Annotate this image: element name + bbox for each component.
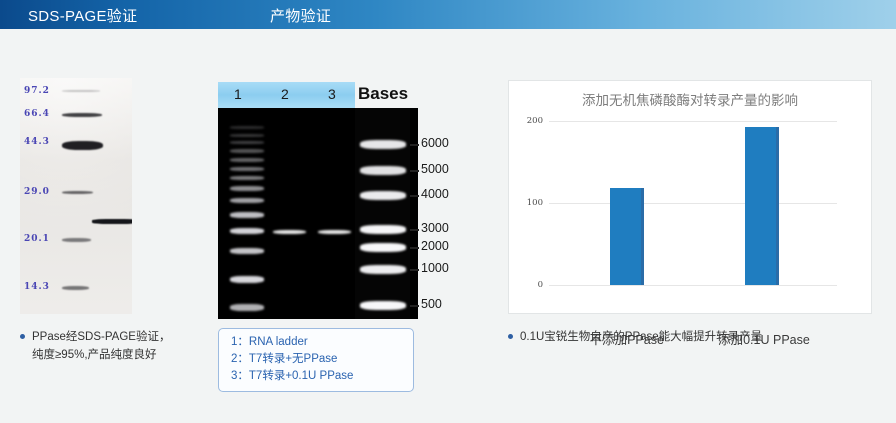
- mw-marker-label: 14.3: [24, 282, 50, 292]
- transcript-band-lane-3: [318, 230, 351, 234]
- sds-page-bullet-text: PPase经SDS-PAGE验证，纯度≥95%,产品纯度良好: [32, 328, 170, 364]
- rna-ladder-band: [230, 248, 264, 254]
- rna-ladder-band: [230, 228, 264, 234]
- mw-marker-label: 20.1: [24, 234, 50, 244]
- rna-ladder-band: [230, 167, 264, 171]
- chart-gridline: [549, 121, 837, 122]
- ladder-size-label-2000: 2000: [421, 239, 449, 253]
- mw-marker-band: [62, 141, 103, 150]
- chart-plot-area: 0100200不添加PPase添加0.1U PPase: [549, 121, 837, 285]
- chart-x-tick-label-1: 不添加PPase: [583, 329, 671, 348]
- ladder-size-label-4000: 4000: [421, 187, 449, 201]
- rna-ladder-band: [230, 149, 264, 153]
- mw-marker-label: 66.4: [24, 109, 50, 119]
- mw-marker-label: 97.2: [24, 86, 50, 96]
- chart-title: 添加无机焦磷酸酶对转录产量的影响: [509, 89, 871, 109]
- dna-ladder-band-2000: [360, 243, 406, 252]
- rna-ladder-band: [230, 186, 264, 191]
- chart-y-tick-label: 0: [538, 280, 543, 290]
- dna-ladder-band-6000: [360, 140, 406, 149]
- dna-ladder-band-1000: [360, 265, 406, 274]
- header-bar: SDS-PAGE验证 产物验证: [0, 0, 896, 29]
- mw-marker-band: [62, 286, 89, 290]
- mw-marker-band: [62, 90, 100, 92]
- tab-sds-page-verification[interactable]: SDS-PAGE验证: [28, 5, 137, 26]
- agarose-gel-image: 600050004000300020001000500: [218, 108, 418, 319]
- rna-ladder-band: [230, 176, 264, 180]
- gel-lane-header: Bases 123: [218, 82, 418, 108]
- chart-x-tick-label-2: 添加0.1U PPase: [718, 329, 806, 348]
- lane-legend-item: 3：T7转录+0.1U PPase: [231, 368, 413, 385]
- chart-bullet-row: 0.1U宝锐生物自产的PPase能大幅提升转录产量: [508, 328, 880, 346]
- bullet-dot-icon: [20, 334, 25, 339]
- dna-ladder-band-5000: [360, 166, 406, 175]
- chart-gridline: [549, 285, 837, 286]
- ladder-size-label-1000: 1000: [421, 261, 449, 275]
- ladder-size-tick: [410, 195, 419, 197]
- transcript-band-lane-2: [273, 230, 306, 234]
- ladder-size-tick: [410, 305, 419, 307]
- mw-marker-band: [62, 113, 102, 117]
- chart-bar-2[interactable]: [745, 127, 779, 285]
- mw-marker-label: 29.0: [24, 187, 50, 197]
- rna-ladder-band: [230, 141, 264, 144]
- rna-ladder-band: [230, 212, 264, 218]
- chart-column: 添加无机焦磷酸酶对转录产量的影响 0100200不添加PPase添加0.1U P…: [508, 80, 880, 346]
- rna-ladder-band: [230, 134, 264, 137]
- ladder-size-tick: [410, 247, 419, 249]
- rna-ladder-band: [230, 158, 264, 162]
- mw-marker-label: 44.3: [24, 137, 50, 147]
- sds-page-column: 97.266.444.329.020.114.3 PPase经SDS-PAGE验…: [20, 78, 195, 364]
- chart-y-tick-label: 200: [527, 116, 543, 126]
- rna-ladder-band: [230, 276, 264, 283]
- ladder-size-tick: [410, 269, 419, 271]
- gel-lane-legend-box: 1：RNA ladder2：T7转录+无PPase3：T7转录+0.1U PPa…: [218, 328, 414, 392]
- gel-lane-number-1: 1: [234, 86, 242, 102]
- gel-lane-number-3: 3: [328, 86, 336, 102]
- ladder-size-label-3000: 3000: [421, 221, 449, 235]
- dna-ladder-band-3000: [360, 225, 406, 234]
- mw-marker-band: [62, 238, 91, 242]
- ladder-size-label-5000: 5000: [421, 162, 449, 176]
- tab-product-verification[interactable]: 产物验证: [270, 5, 331, 26]
- ladder-size-label-6000: 6000: [421, 136, 449, 150]
- bar-chart-panel: 添加无机焦磷酸酶对转录产量的影响 0100200不添加PPase添加0.1U P…: [508, 80, 872, 314]
- ladder-size-tick: [410, 170, 419, 172]
- dna-ladder-band-4000: [360, 191, 406, 200]
- lane-legend-item: 1：RNA ladder: [231, 334, 413, 351]
- rna-ladder-band: [230, 126, 264, 129]
- chart-y-tick-label: 100: [527, 198, 543, 208]
- sds-page-bullet-row: PPase经SDS-PAGE验证，纯度≥95%,产品纯度良好: [20, 328, 195, 364]
- dna-ladder-band-500: [360, 301, 406, 310]
- gel-lane-number-2: 2: [281, 86, 289, 102]
- chart-gridline: [549, 203, 837, 204]
- bases-label: Bases: [358, 84, 408, 104]
- ladder-size-tick: [410, 229, 419, 231]
- mw-marker-band: [62, 191, 93, 194]
- sds-page-gel-image: 97.266.444.329.020.114.3: [20, 78, 132, 314]
- lane-legend-item: 2：T7转录+无PPase: [231, 351, 413, 368]
- chart-bar-1[interactable]: [610, 188, 644, 285]
- ladder-size-label-500: 500: [421, 297, 442, 311]
- rna-ladder-band: [230, 304, 264, 311]
- sds-sample-band: [92, 219, 132, 224]
- agarose-gel-column: Bases 123 600050004000300020001000500 1：…: [218, 82, 423, 392]
- bullet-dot-icon: [508, 334, 513, 339]
- ladder-size-tick: [410, 144, 419, 146]
- rna-ladder-band: [230, 198, 264, 203]
